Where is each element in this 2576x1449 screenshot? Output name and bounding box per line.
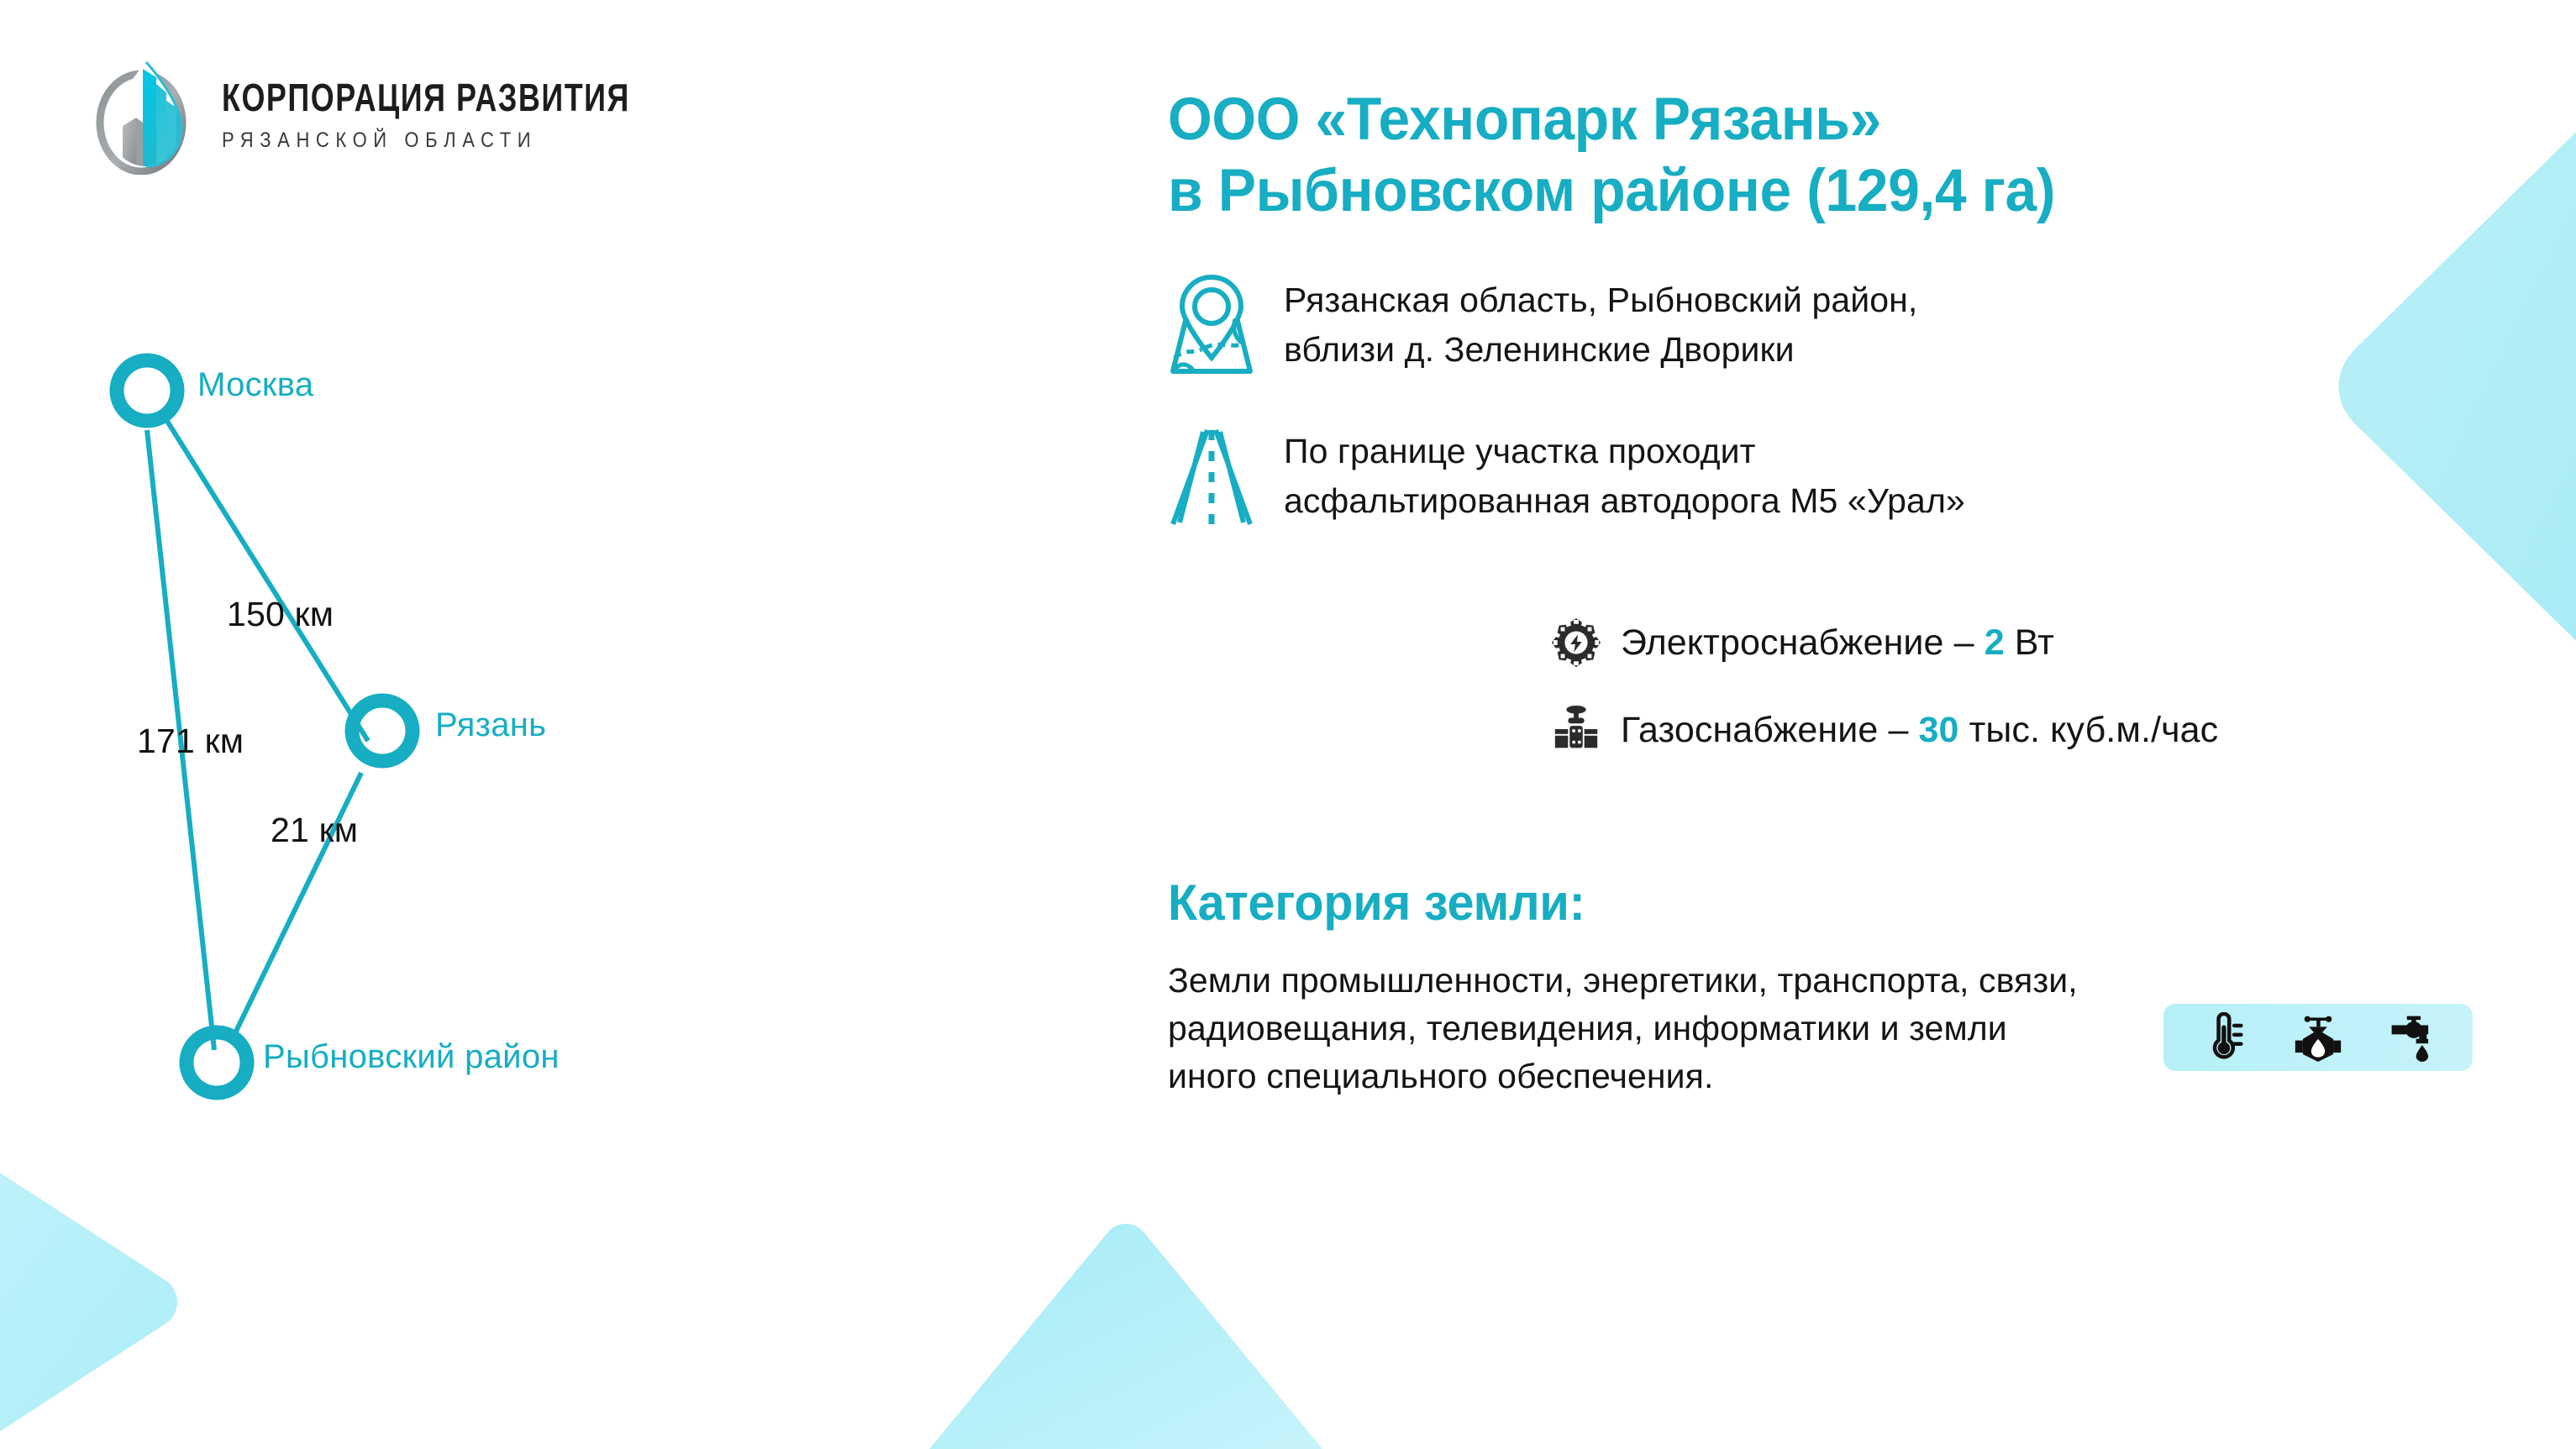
road-icon [1168, 422, 1255, 529]
company-logo: КОРПОРАЦИЯ РАЗВИТИЯ РЯЗАНСКОЙ ОБЛАСТИ [92, 57, 643, 175]
electricity-gear-icon [1550, 617, 1602, 669]
category-title: Категория земли: [1168, 874, 2474, 932]
utility-gas-value: 30 [1919, 710, 1959, 750]
page-title-line1: ООО «Технопарк Рязань» [1168, 84, 2468, 155]
content-column: ООО «Технопарк Рязань» в Рыбновском райо… [1168, 84, 2529, 1100]
page-title: ООО «Технопарк Рязань» в Рыбновском райо… [1168, 84, 2468, 227]
location-text: Рязанская область, Рыбновский район, вбл… [1284, 270, 1917, 373]
node-rybnoe [187, 1032, 247, 1093]
category-body: Земли промышленности, энергетики, трансп… [1168, 957, 2529, 1100]
utility-gas-label: Газоснабжение – [1621, 710, 1919, 750]
distance-diagram: Москва Рязань Рыбновский район 150 км 17… [50, 353, 1017, 1176]
building-drop-logo-icon [92, 57, 200, 175]
utility-electricity-label: Электроснабжение – [1621, 622, 1985, 663]
distance-label-moscow-ryazan: 150 км [227, 595, 334, 634]
utilities-list: Электроснабжение – 2 Вт [1550, 617, 2529, 756]
category-body-line2: радиовещания, телевидения, информатики и… [1168, 1005, 2529, 1053]
utility-row-gas: Газоснабжение – 30 тыс. куб.м./час [1550, 704, 2529, 756]
distance-label-ryazan-rybnoe: 21 км [271, 811, 358, 850]
page-title-line2: в Рыбновском районе (129,4 га) [1168, 155, 2468, 227]
node-label-moscow: Москва [197, 366, 313, 404]
edge-moscow-ryazan [164, 416, 368, 741]
info-row-road: По границе участка проходит асфальтирова… [1168, 422, 2529, 529]
category-body-line3: иного специального обеспечения. [1168, 1053, 2529, 1100]
utility-electricity-unit: Вт [2005, 622, 2054, 663]
decorative-triangle-bottom-center [857, 1197, 1395, 1449]
info-row-location: Рязанская область, Рыбновский район, вбл… [1168, 270, 2529, 378]
distance-label-moscow-rybnoe: 171 км [137, 722, 244, 761]
gas-valve-icon [1550, 704, 1602, 756]
road-text: По границе участка проходит асфальтирова… [1284, 422, 1965, 524]
utility-gas-text: Газоснабжение – 30 тыс. куб.м./час [1621, 710, 2218, 751]
node-label-rybnoe: Рыбновский район [263, 1038, 560, 1076]
utility-electricity-text: Электроснабжение – 2 Вт [1621, 622, 2054, 664]
location-line2: вблизи д. Зеленинские Дворики [1284, 325, 1917, 374]
road-line1: По границе участка проходит [1284, 427, 1965, 475]
location-line1: Рязанская область, Рыбновский район, [1284, 276, 1917, 324]
node-moscow [117, 360, 177, 421]
logo-title-line1: КОРПОРАЦИЯ РАЗВИТИЯ [222, 77, 630, 120]
node-label-ryazan: Рязань [435, 706, 546, 744]
map-pin-icon [1168, 270, 1255, 378]
utility-row-electricity: Электроснабжение – 2 Вт [1550, 617, 2529, 669]
slide-canvas: КОРПОРАЦИЯ РАЗВИТИЯ РЯЗАНСКОЙ ОБЛАСТИ Мо… [0, 0, 2576, 1449]
category-section: Категория земли: Земли промышленности, э… [1168, 874, 2529, 1100]
utility-gas-unit: тыс. куб.м./час [1959, 710, 2219, 750]
road-line2: асфальтированная автодорога М5 «Урал» [1284, 476, 1965, 525]
logo-title-line2: РЯЗАНСКОЙ ОБЛАСТИ [222, 129, 643, 151]
category-body-line1: Земли промышленности, энергетики, трансп… [1168, 957, 2529, 1005]
utility-electricity-value: 2 [1985, 622, 2005, 663]
